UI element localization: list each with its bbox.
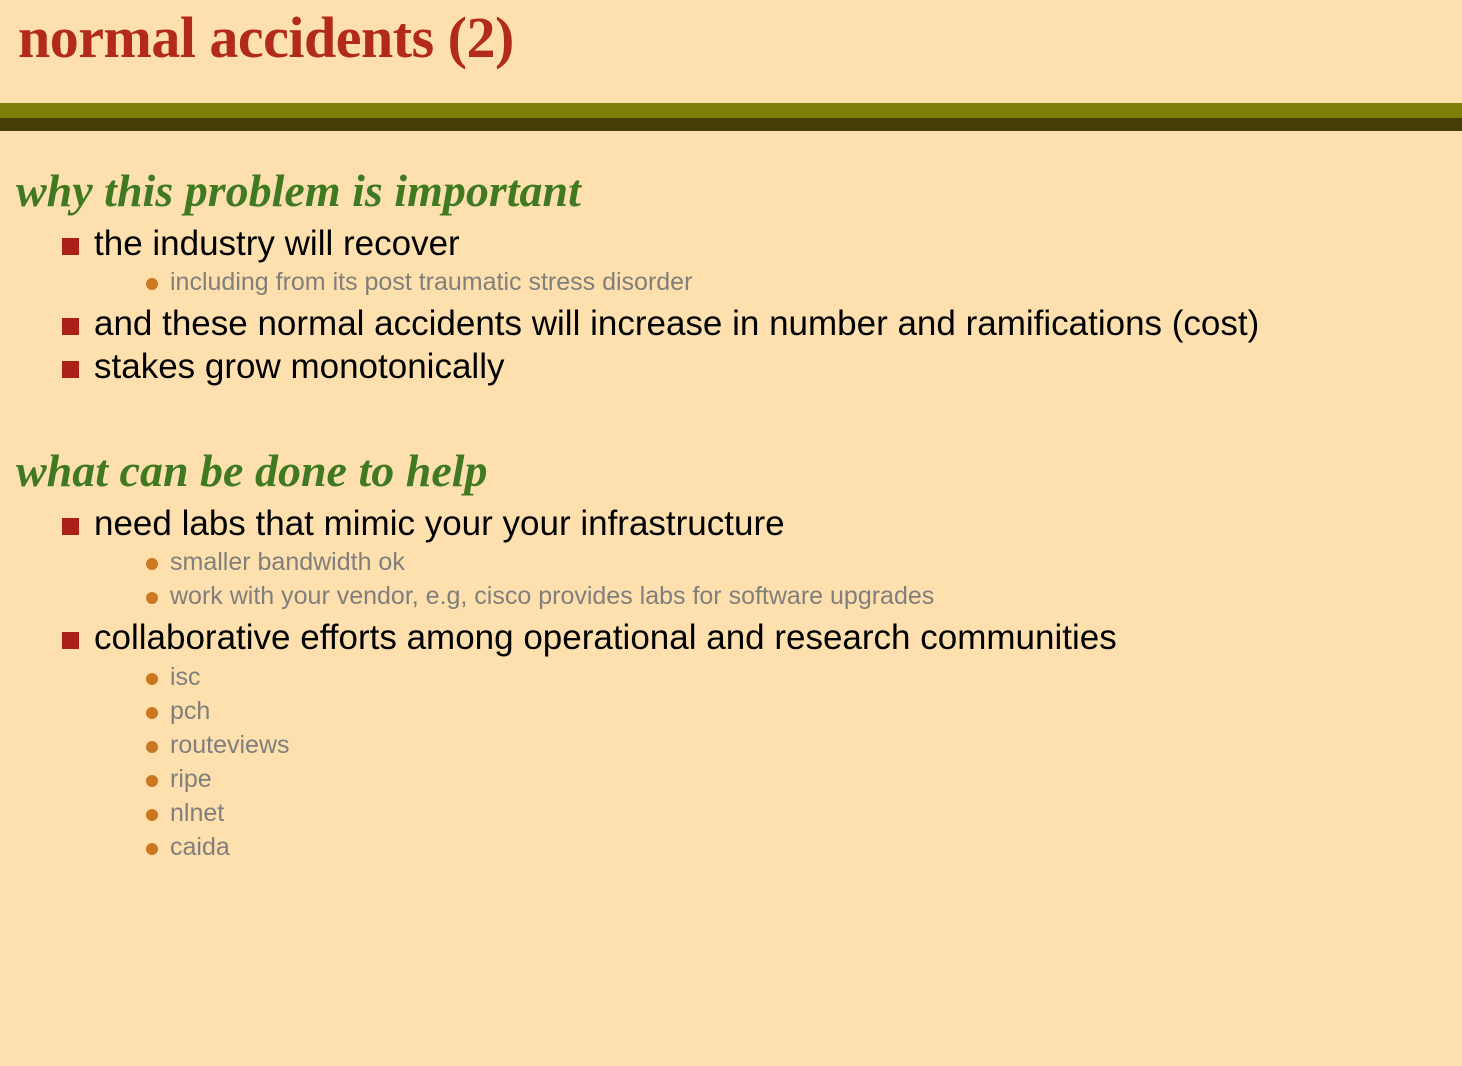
square-bullet-icon	[62, 238, 79, 255]
dot-bullet-icon	[146, 558, 158, 570]
title-divider	[0, 103, 1462, 131]
square-bullet-icon	[62, 318, 79, 335]
dot-bullet-icon	[146, 775, 158, 787]
sub-bullet-text: smaller bandwidth ok	[170, 548, 405, 576]
bullet-item: the industry will recover including from…	[60, 223, 1422, 299]
sub-bullet-text: routeviews	[170, 731, 290, 759]
slide-title: normal accidents (2)	[18, 6, 514, 70]
bullet-list-level2: smaller bandwidth ok work with your vend…	[94, 546, 1422, 613]
section-what-can-be-done-to-help: what can be done to help need labs that …	[0, 445, 1462, 863]
sub-bullet-text: caida	[170, 833, 230, 861]
section-why-this-problem-is-important: why this problem is important the indust…	[0, 165, 1462, 387]
dot-bullet-icon	[146, 592, 158, 604]
square-bullet-icon	[62, 518, 79, 535]
bullet-text: the industry will recover	[94, 224, 460, 263]
bullet-item: and these normal accidents will increase…	[60, 303, 1422, 344]
sub-bullet-item: pch	[146, 695, 1422, 728]
sub-bullet-text: pch	[170, 697, 210, 725]
dot-bullet-icon	[146, 707, 158, 719]
sub-bullet-text: ripe	[170, 765, 212, 793]
divider-bar-olive	[0, 103, 1462, 118]
slide: normal accidents (2) why this problem is…	[0, 0, 1462, 1066]
section-heading: why this problem is important	[0, 165, 1462, 217]
sub-bullet-item: smaller bandwidth ok	[146, 546, 1422, 579]
bullet-text: collaborative efforts among operational …	[94, 618, 1117, 657]
bullet-list-level1: need labs that mimic your your infrastru…	[0, 503, 1462, 864]
sub-bullet-item: including from its post traumatic stress…	[146, 266, 1422, 299]
bullet-text: and these normal accidents will increase…	[94, 304, 1259, 343]
bullet-item: need labs that mimic your your infrastru…	[60, 503, 1422, 613]
dot-bullet-icon	[146, 843, 158, 855]
divider-bar-dark-olive	[0, 118, 1462, 131]
dot-bullet-icon	[146, 673, 158, 685]
dot-bullet-icon	[146, 278, 158, 290]
dot-bullet-icon	[146, 809, 158, 821]
slide-body: why this problem is important the indust…	[0, 165, 1462, 868]
bullet-text: need labs that mimic your your infrastru…	[94, 504, 785, 543]
sub-bullet-text: isc	[170, 663, 201, 691]
bullet-list-level2: including from its post traumatic stress…	[94, 266, 1422, 299]
section-heading: what can be done to help	[0, 445, 1462, 497]
bullet-list-level2: isc pch routeviews ripe	[94, 661, 1422, 864]
sub-bullet-item: isc	[146, 661, 1422, 694]
sub-bullet-item: work with your vendor, e.g, cisco provid…	[146, 580, 1422, 613]
bullet-item: collaborative efforts among operational …	[60, 617, 1422, 863]
sub-bullet-text: nlnet	[170, 799, 224, 827]
sub-bullet-item: nlnet	[146, 797, 1422, 830]
bullet-text: stakes grow monotonically	[94, 347, 504, 386]
square-bullet-icon	[62, 361, 79, 378]
sub-bullet-text: work with your vendor, e.g, cisco provid…	[170, 582, 934, 610]
bullet-item: stakes grow monotonically	[60, 346, 1422, 387]
bullet-list-level1: the industry will recover including from…	[0, 223, 1462, 388]
square-bullet-icon	[62, 632, 79, 649]
sub-bullet-item: ripe	[146, 763, 1422, 796]
dot-bullet-icon	[146, 741, 158, 753]
sub-bullet-item: routeviews	[146, 729, 1422, 762]
sub-bullet-item: caida	[146, 831, 1422, 864]
sub-bullet-text: including from its post traumatic stress…	[170, 268, 692, 296]
